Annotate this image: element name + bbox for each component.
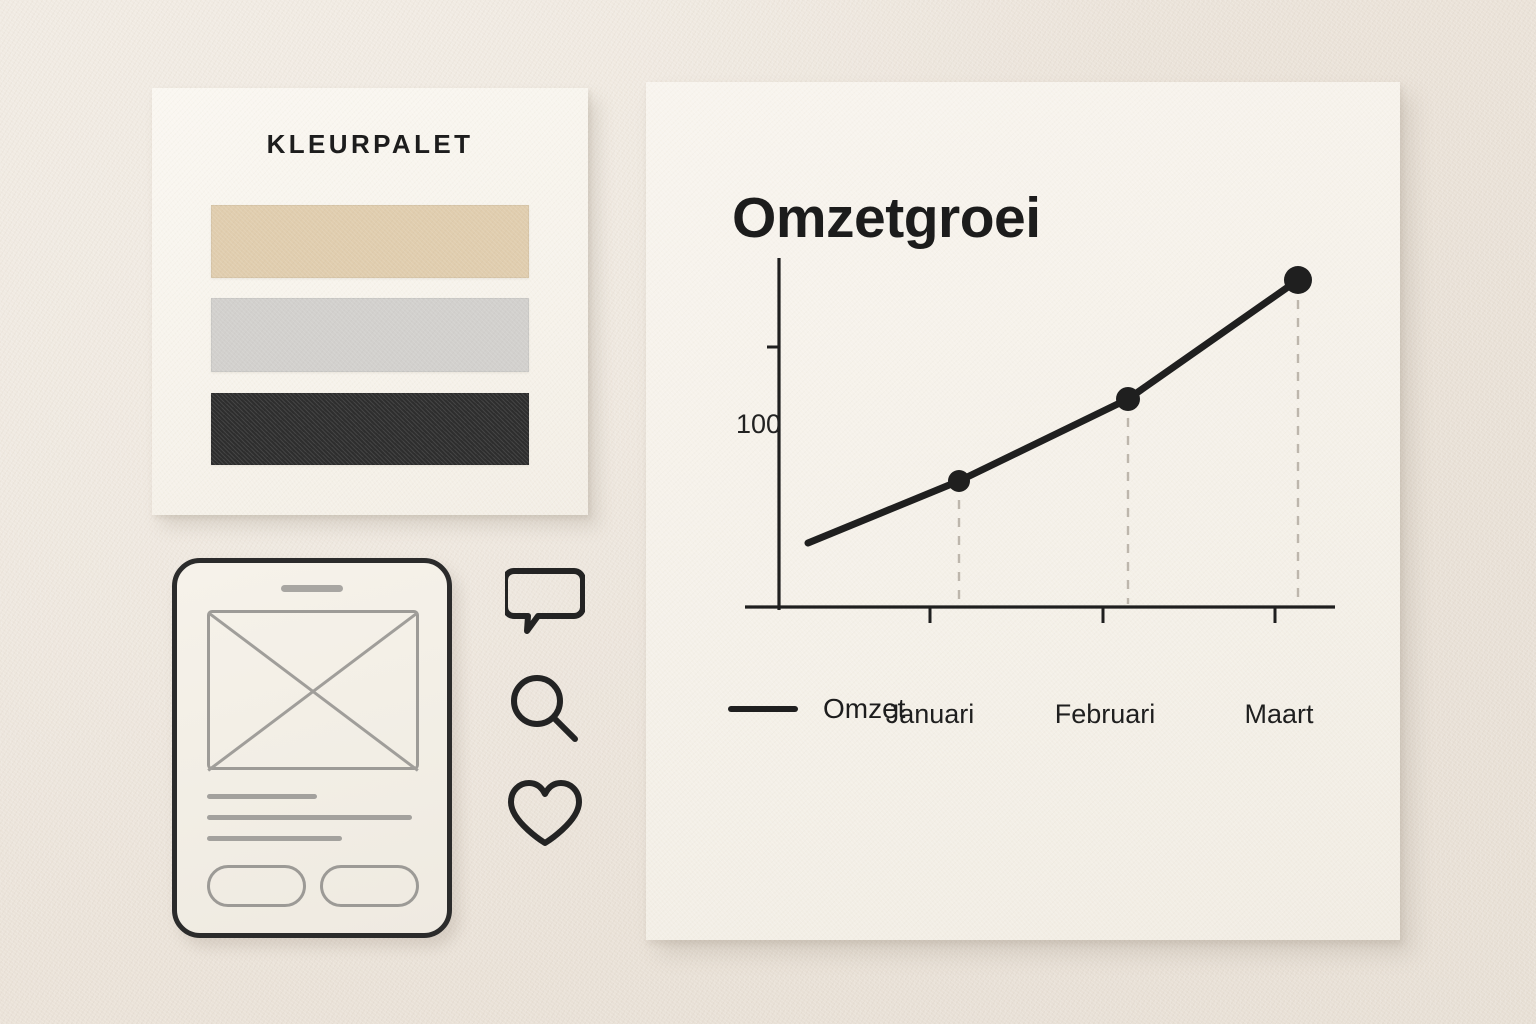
line-chart-plot[interactable]	[646, 82, 1400, 940]
legend-line-swatch	[728, 706, 798, 712]
data-point-maart	[1284, 266, 1312, 294]
color-swatch-antraciet[interactable]	[211, 393, 529, 465]
swatch-fill	[211, 393, 529, 465]
text-placeholder-line	[207, 836, 342, 841]
palette-card-title: KLEURPALET	[152, 129, 588, 160]
series-line-omzet	[808, 280, 1298, 543]
wireframe-button-primary[interactable]	[207, 865, 306, 907]
icon-strip	[505, 565, 605, 883]
swatch-fill	[211, 298, 529, 372]
heart-icon[interactable]	[505, 777, 585, 855]
x-axis-label-maart: Maart	[1244, 699, 1313, 730]
y-axis-tick-label: 100	[736, 409, 781, 440]
image-placeholder-icon	[207, 610, 419, 770]
swatch-fill	[211, 205, 529, 278]
chat-bubble-icon[interactable]	[505, 565, 585, 643]
x-axis-label-februari: Februari	[1055, 699, 1156, 730]
chart-legend[interactable]: Omzet	[728, 693, 905, 725]
color-palette-card: KLEURPALET	[152, 88, 588, 515]
phone-speaker-icon	[281, 585, 343, 592]
color-swatch-grijs[interactable]	[211, 298, 529, 372]
color-swatch-zand[interactable]	[211, 205, 529, 278]
revenue-chart-card: Omzetgroei 100 Januari Februari Maart Om…	[646, 82, 1400, 940]
legend-label-omzet: Omzet	[823, 693, 905, 725]
search-icon[interactable]	[505, 671, 585, 749]
data-point-februari	[1116, 387, 1140, 411]
text-placeholder-line	[207, 794, 317, 799]
phone-wireframe-mockup	[172, 558, 452, 938]
wireframe-button-secondary[interactable]	[320, 865, 419, 907]
text-placeholder-line	[207, 815, 412, 820]
data-point-januari	[948, 470, 970, 492]
